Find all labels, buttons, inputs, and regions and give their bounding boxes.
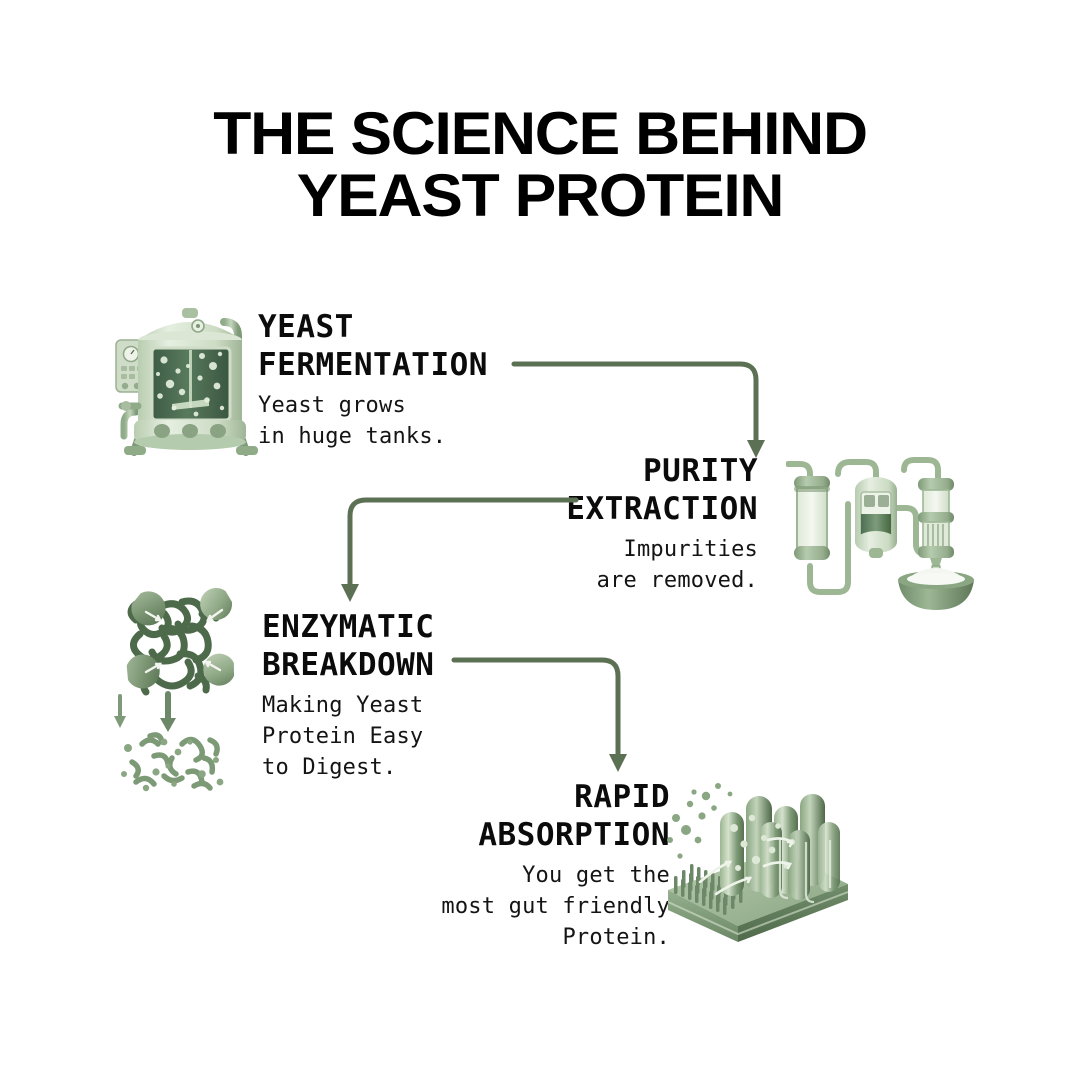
page-title-line-1: THE SCIENCE BEHIND xyxy=(0,103,1080,165)
fermentation-tank-illustration xyxy=(112,296,268,464)
step-1-body-line-2: in huge tanks. xyxy=(258,421,488,452)
step-4-heading-line-1: RAPID xyxy=(330,778,670,816)
step-4-body-line-1: You get the xyxy=(330,860,670,891)
step-3-body-line-2: Protein Easy xyxy=(262,721,434,752)
step-4-heading-line-2: ABSORPTION xyxy=(330,816,670,854)
step-3-heading-line-1: ENZYMATIC xyxy=(262,608,434,646)
step-1-body-line-1: Yeast grows xyxy=(258,390,488,421)
intestinal-villi-illustration xyxy=(660,778,856,942)
connector-arrow-1 xyxy=(512,356,772,466)
step-4-body-line-2: most gut friendly xyxy=(330,891,670,922)
step-3-heading-line-2: BREAKDOWN xyxy=(262,646,434,684)
step-1-heading-line-1: YEAST xyxy=(258,308,488,346)
step-enzymatic-breakdown-text: ENZYMATIC BREAKDOWN Making Yeast Protein… xyxy=(262,608,434,783)
page-title-line-2: YEAST PROTEIN xyxy=(0,165,1080,227)
extraction-columns-illustration xyxy=(786,448,982,614)
infographic-canvas: THE SCIENCE BEHIND YEAST PROTEIN xyxy=(0,0,1080,1080)
enzyme-breakdown-illustration xyxy=(106,576,258,794)
step-4-body-line-3: Protein. xyxy=(330,922,670,953)
connector-arrow-3 xyxy=(452,650,652,780)
step-rapid-absorption-text: RAPID ABSORPTION You get the most gut fr… xyxy=(330,778,670,953)
step-1-heading-line-2: FERMENTATION xyxy=(258,346,488,384)
step-2-heading-line-1: PURITY xyxy=(392,452,758,490)
step-3-body-line-1: Making Yeast xyxy=(262,690,434,721)
connector-arrow-2 xyxy=(340,490,580,608)
page-title: THE SCIENCE BEHIND YEAST PROTEIN xyxy=(0,103,1080,227)
step-yeast-fermentation-text: YEAST FERMENTATION Yeast grows in huge t… xyxy=(258,308,488,452)
